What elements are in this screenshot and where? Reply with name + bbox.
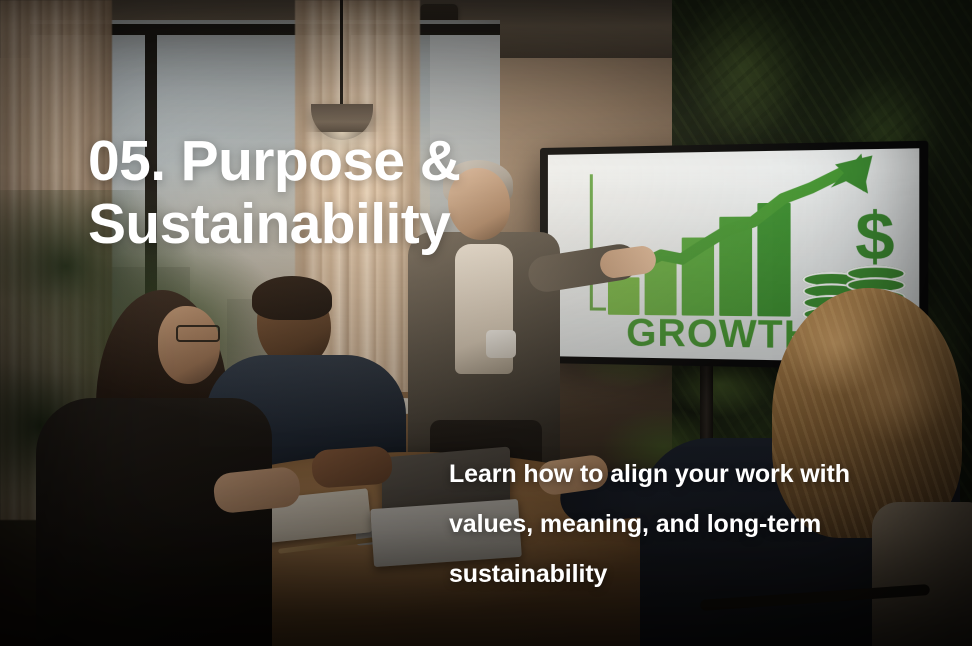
- slide-root: $ GROWTH: [0, 0, 972, 646]
- slide-subtitle: Learn how to align your work with values…: [449, 449, 939, 599]
- text-overlay: 05. Purpose & Sustainability Learn how t…: [0, 0, 972, 646]
- page-title: 05. Purpose & Sustainability: [88, 130, 558, 255]
